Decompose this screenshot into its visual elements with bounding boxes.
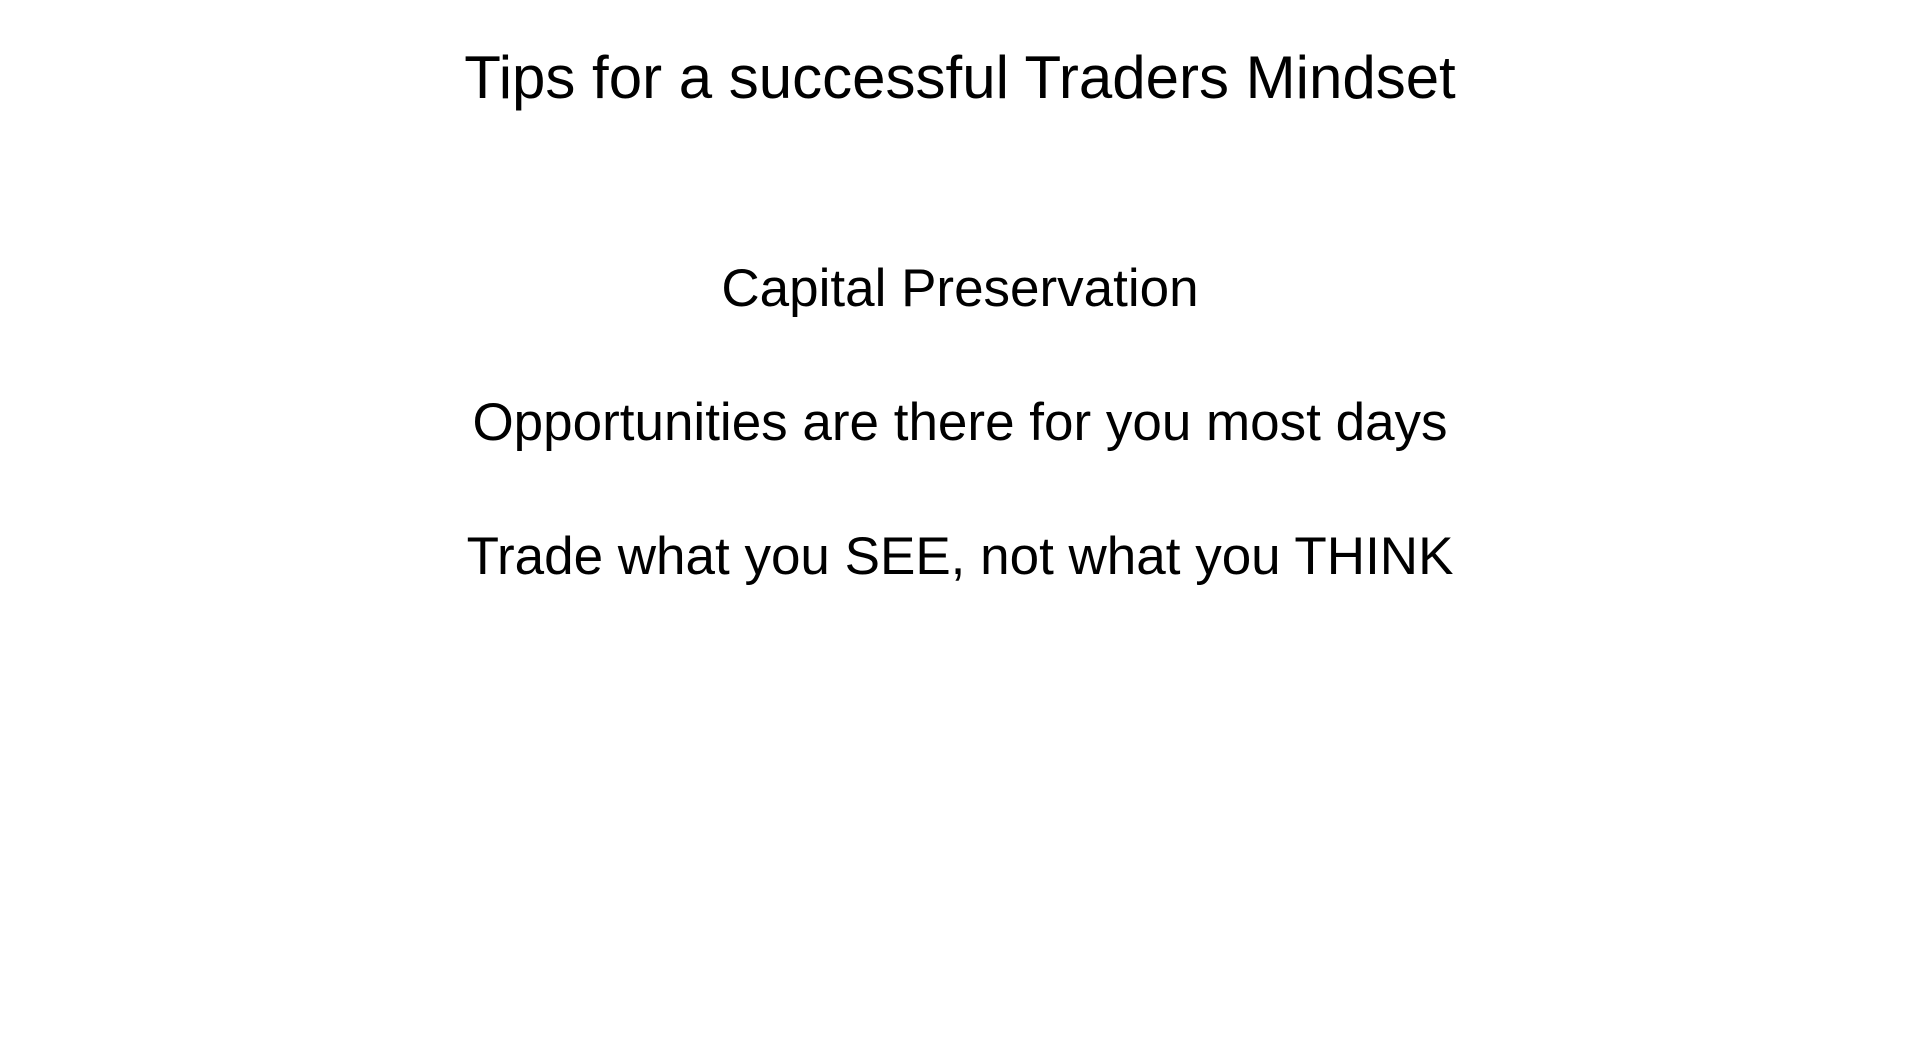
body-line: Trade what you SEE, not what you THINK (0, 490, 1920, 624)
body-placeholder: Capital Preservation Opportunities are t… (0, 222, 1920, 652)
body-line-text: Trade what you SEE, not what you THINK (467, 529, 1454, 585)
body-line-text: Capital Preservation (721, 261, 1198, 317)
empty-slide-area (0, 652, 1920, 1040)
presentation-slide: Tips for a successful Traders Mindset Ca… (0, 0, 1920, 1040)
body-line-text: Opportunities are there for you most day… (472, 395, 1447, 451)
body-line: Capital Preservation (0, 222, 1920, 356)
body-line: Opportunities are there for you most day… (0, 356, 1920, 490)
title-placeholder: Tips for a successful Traders Mindset (0, 0, 1920, 190)
page-title: Tips for a successful Traders Mindset (464, 48, 1455, 150)
